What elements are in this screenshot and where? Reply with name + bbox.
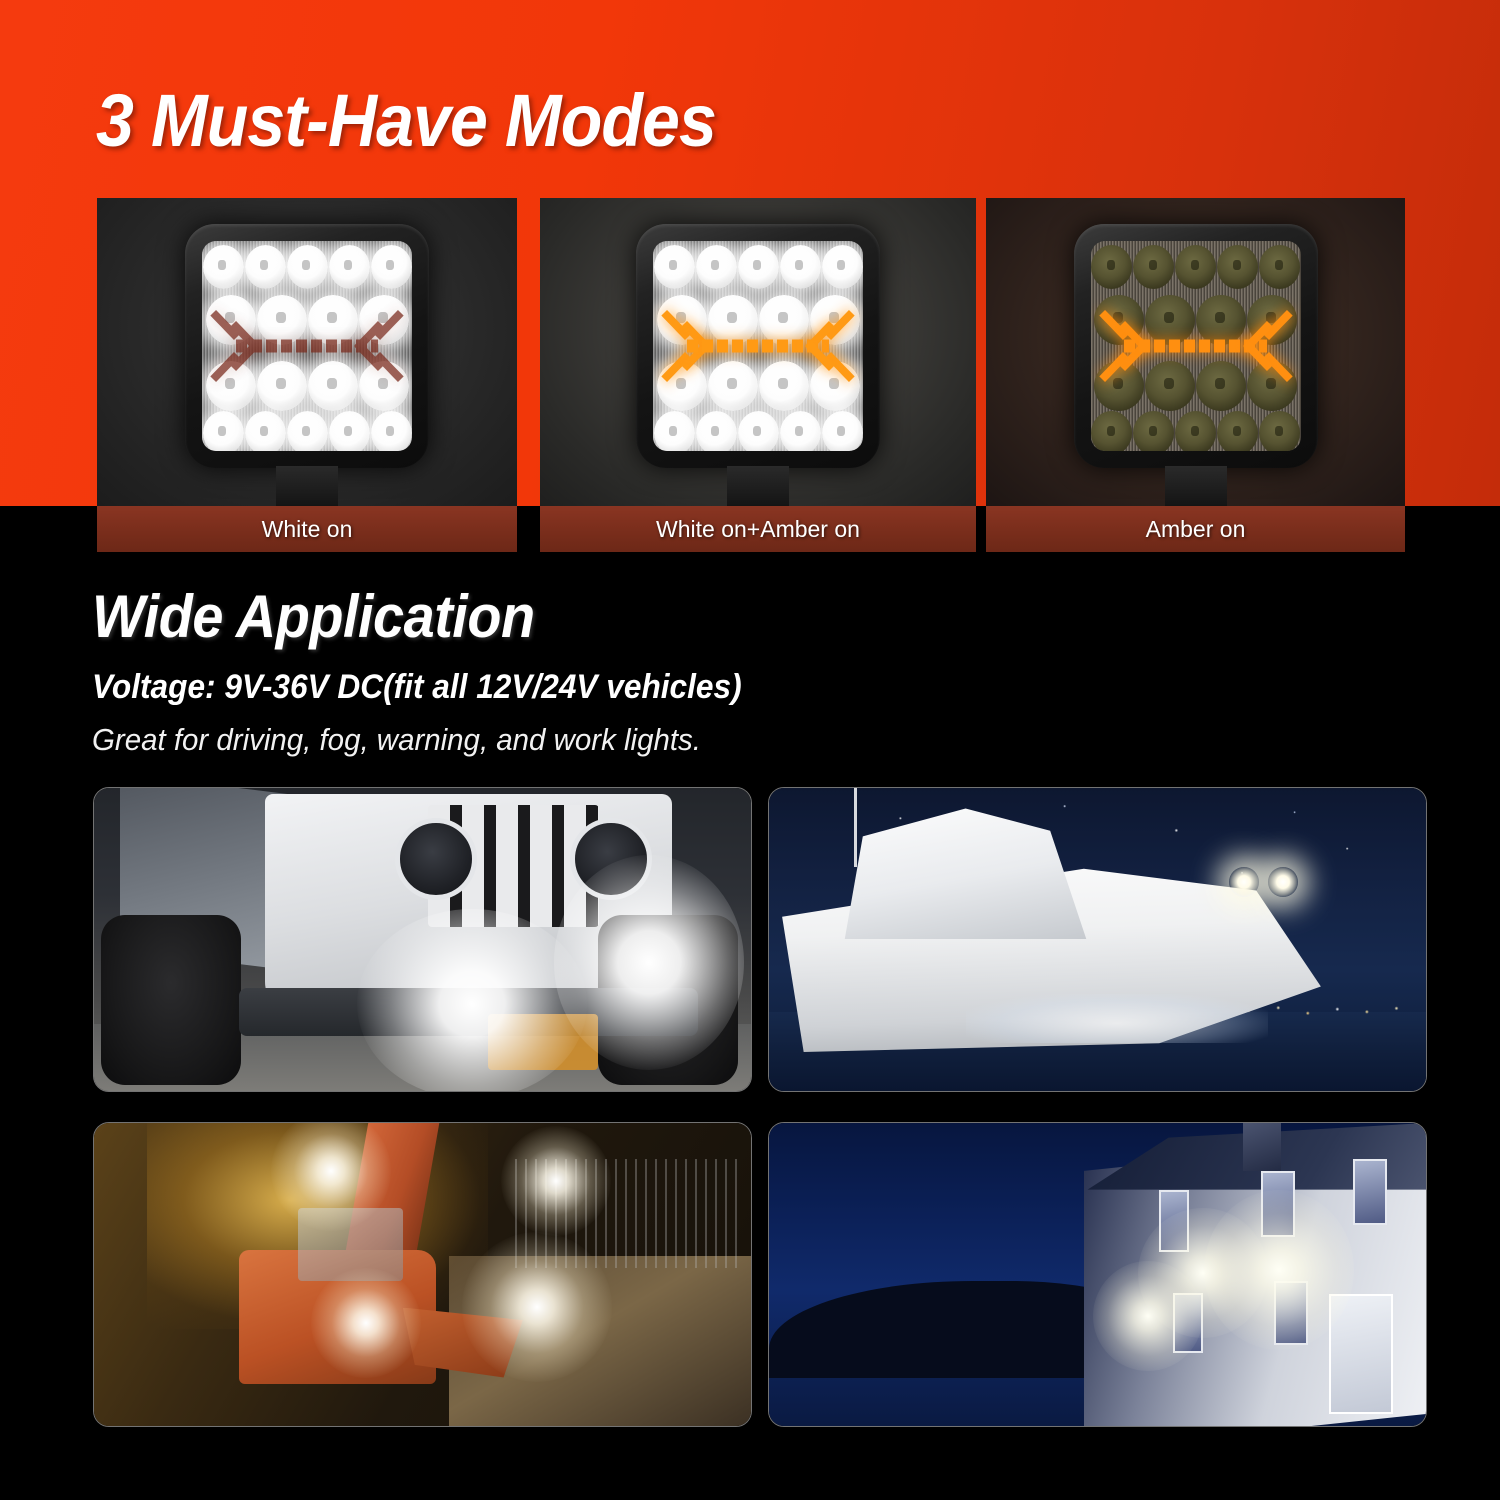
exterior-floodlight [1093, 1261, 1203, 1371]
led-bulb [1094, 295, 1144, 345]
application-card-boat-lighting: Boat Lighting Skiff, Yacht, Freighter [768, 787, 1427, 1092]
led-bulb [654, 245, 695, 289]
led-bulb [1247, 295, 1297, 345]
led-bulb [1175, 245, 1216, 289]
led-bulb [257, 361, 307, 411]
led-bulb [1259, 411, 1300, 451]
boat-spotlight [1268, 867, 1298, 897]
product-infographic: 3 Must-Have Modes [0, 0, 1500, 1500]
led-lamp-amber-on [1074, 224, 1318, 468]
led-bulb [822, 411, 863, 451]
led-bulb [287, 411, 328, 451]
mounting-bracket [727, 466, 789, 506]
mode-label-amber-on: Amber on [986, 506, 1405, 552]
led-bulb [1091, 411, 1132, 451]
boat-spotlight [1229, 867, 1259, 897]
application-card-outdoor-equipment: Outdoor Equipment Trailer, Tractor,Forkl… [93, 1122, 752, 1427]
led-bulb [308, 295, 358, 345]
led-row-third [1091, 361, 1301, 411]
led-bulb [1247, 361, 1297, 411]
photo-excavator-construction-site [94, 1123, 751, 1426]
led-lamp-white-and-amber-on [636, 224, 880, 468]
led-bulb [780, 411, 821, 451]
led-bulb [371, 411, 412, 451]
lamp-lens [202, 241, 412, 451]
led-row-top [1091, 245, 1301, 289]
led-lamp-white-on [185, 224, 429, 468]
led-bulb [308, 361, 358, 411]
voltage-spec-line: Voltage: 9V-36V DC(fit all 12V/24V vehic… [92, 668, 742, 707]
led-row-third [653, 361, 863, 411]
led-bulb [1094, 361, 1144, 411]
led-bulb [206, 361, 256, 411]
led-bulb [654, 411, 695, 451]
lamp-lens [1091, 241, 1301, 451]
exterior-floodlight [1204, 1190, 1354, 1350]
led-bulb [1175, 411, 1216, 451]
led-row-bottom [1091, 411, 1301, 451]
mode-panel-white-and-amber-on [540, 198, 976, 506]
house-chimney [1243, 1123, 1281, 1171]
led-light-beam [554, 855, 744, 1070]
led-bulb [759, 361, 809, 411]
work-light-flare [311, 1268, 421, 1378]
led-bulb [822, 245, 863, 289]
led-bulb [359, 295, 409, 345]
led-row-bottom [653, 411, 863, 451]
led-bulb [257, 295, 307, 345]
led-bulb [371, 245, 412, 289]
led-bulb [738, 411, 779, 451]
jeep-headlight-left [395, 818, 477, 900]
photo-yacht-at-night [769, 788, 1426, 1091]
led-row-second [1091, 295, 1301, 345]
led-bulb [1259, 245, 1300, 289]
led-bulb [203, 411, 244, 451]
led-bulb [657, 361, 707, 411]
led-bulb [206, 295, 256, 345]
led-row-second [653, 295, 863, 345]
led-row-bottom [202, 411, 412, 451]
mode-panel-white-on [97, 198, 517, 506]
led-bulb [810, 295, 860, 345]
application-title: Wide Application [92, 582, 535, 651]
work-light-flare [501, 1126, 611, 1236]
photo-jeep-at-night [94, 788, 751, 1091]
led-bulb [657, 295, 707, 345]
photo-house-at-dusk [769, 1123, 1426, 1426]
application-card-household-lighting: Household Lighting Garden, Backyard, Gar… [768, 1122, 1427, 1427]
led-bulb [1145, 295, 1195, 345]
led-bulb [1133, 411, 1174, 451]
led-bulb [708, 295, 758, 345]
led-bulb [359, 361, 409, 411]
led-bulb [287, 245, 328, 289]
mounting-bracket [276, 466, 338, 506]
led-bulb [203, 245, 244, 289]
led-bulb [329, 411, 370, 451]
led-bulb [708, 361, 758, 411]
led-light-beam [357, 909, 587, 1092]
lamp-lens [653, 241, 863, 451]
led-row-second [202, 295, 412, 345]
led-bulb [1217, 245, 1258, 289]
bow-wave-spray [966, 994, 1268, 1042]
led-bulb [1091, 245, 1132, 289]
mounting-bracket [1165, 466, 1227, 506]
led-bulb [245, 245, 286, 289]
led-bulb [780, 245, 821, 289]
led-bulb [759, 295, 809, 345]
jeep-tire-left [101, 915, 241, 1085]
led-bulb [329, 245, 370, 289]
led-bulb [1196, 361, 1246, 411]
led-bulb [1217, 411, 1258, 451]
led-bulb [696, 411, 737, 451]
led-bulb [245, 411, 286, 451]
led-bulb [696, 245, 737, 289]
modes-headline: 3 Must-Have Modes [96, 78, 716, 163]
application-card-off-road-vehicle: Off-Road Vehicle Truck,ATV,SUV,Jeep, 4x4… [93, 787, 752, 1092]
mode-label-white-on: White on [97, 506, 517, 552]
led-bulb [1133, 245, 1174, 289]
house-window [1353, 1159, 1387, 1225]
led-bulb [1145, 361, 1195, 411]
led-bulb [1196, 295, 1246, 345]
led-bulb [810, 361, 860, 411]
led-bulb [738, 245, 779, 289]
mode-label-white-and-amber-on: White on+Amber on [540, 506, 976, 552]
usage-description-line: Great for driving, fog, warning, and wor… [92, 722, 701, 758]
led-row-third [202, 361, 412, 411]
led-row-top [202, 245, 412, 289]
mode-panel-amber-on [986, 198, 1405, 506]
yacht-mast [854, 788, 857, 867]
work-light-flare [462, 1232, 612, 1382]
led-row-top [653, 245, 863, 289]
